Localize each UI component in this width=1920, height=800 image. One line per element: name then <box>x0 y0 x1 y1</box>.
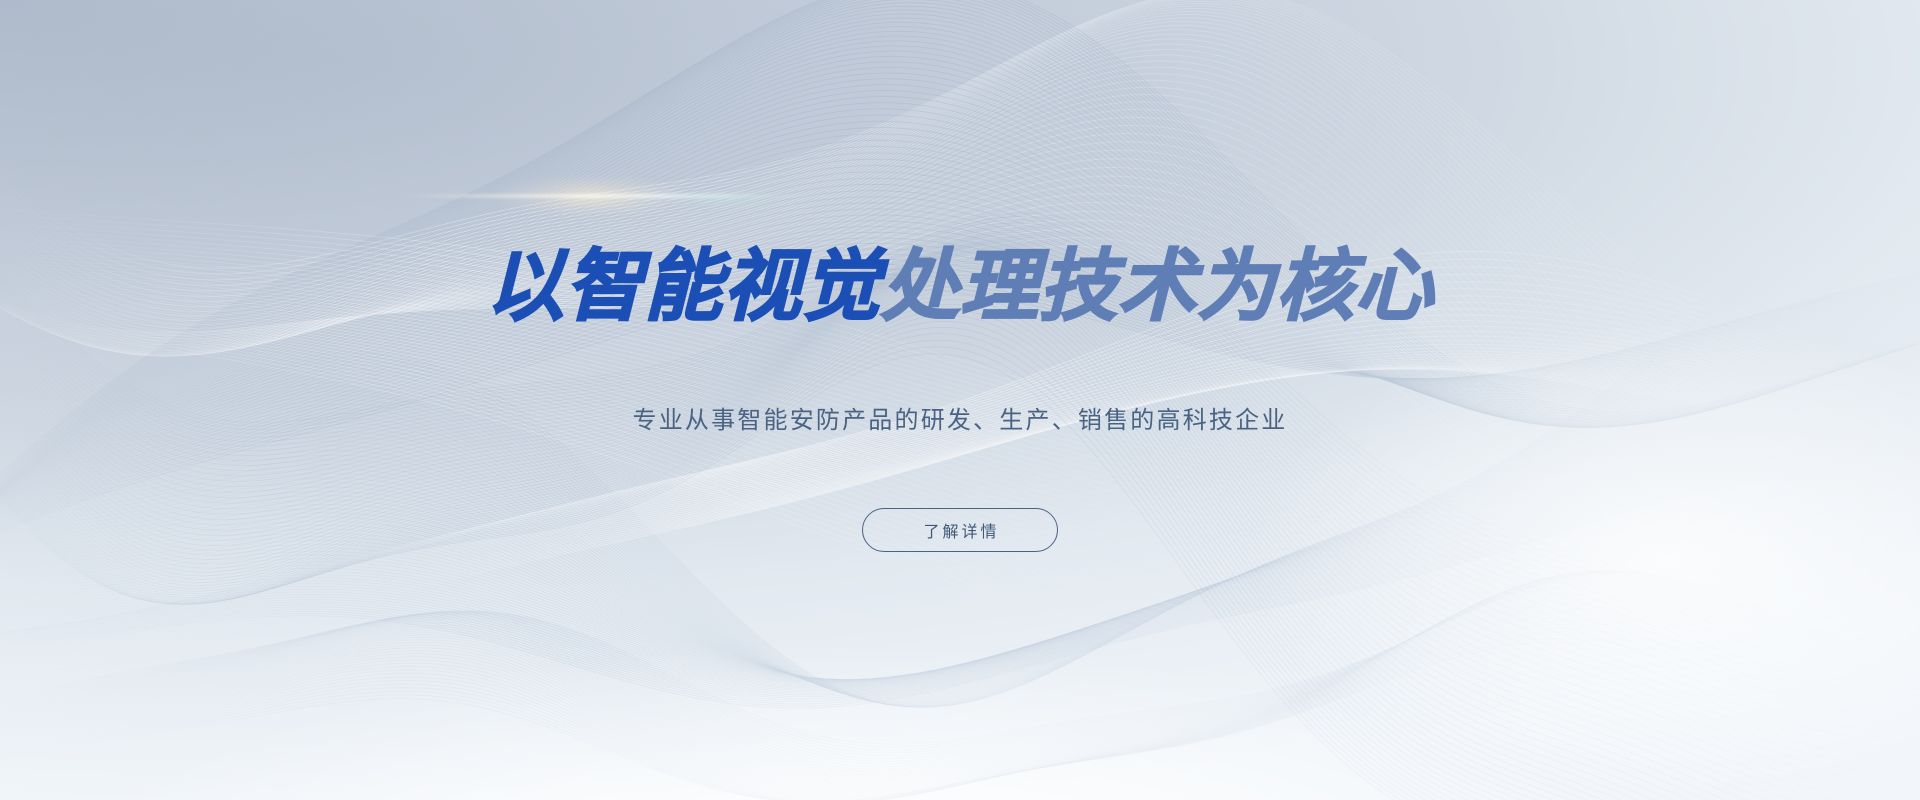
headline-segment-primary: 以智能视觉 <box>486 242 881 332</box>
hero-banner: 以智能视觉处理技术为核心 专业从事智能安防产品的研发、生产、销售的高科技企业 了… <box>0 0 1920 800</box>
cta-container: 了解详情 <box>862 508 1058 552</box>
bottom-glow <box>0 512 1920 800</box>
learn-more-button[interactable]: 了解详情 <box>862 508 1058 552</box>
page-title: 以智能视觉处理技术为核心 <box>486 248 1434 326</box>
lens-flare-icon <box>390 170 850 222</box>
hero-content: 以智能视觉处理技术为核心 专业从事智能安防产品的研发、生产、销售的高科技企业 了… <box>0 0 1920 800</box>
hero-subtitle: 专业从事智能安防产品的研发、生产、销售的高科技企业 <box>633 404 1288 438</box>
headline-segment-secondary: 处理技术为核心 <box>881 242 1434 332</box>
wave-mesh-background <box>0 0 1920 800</box>
